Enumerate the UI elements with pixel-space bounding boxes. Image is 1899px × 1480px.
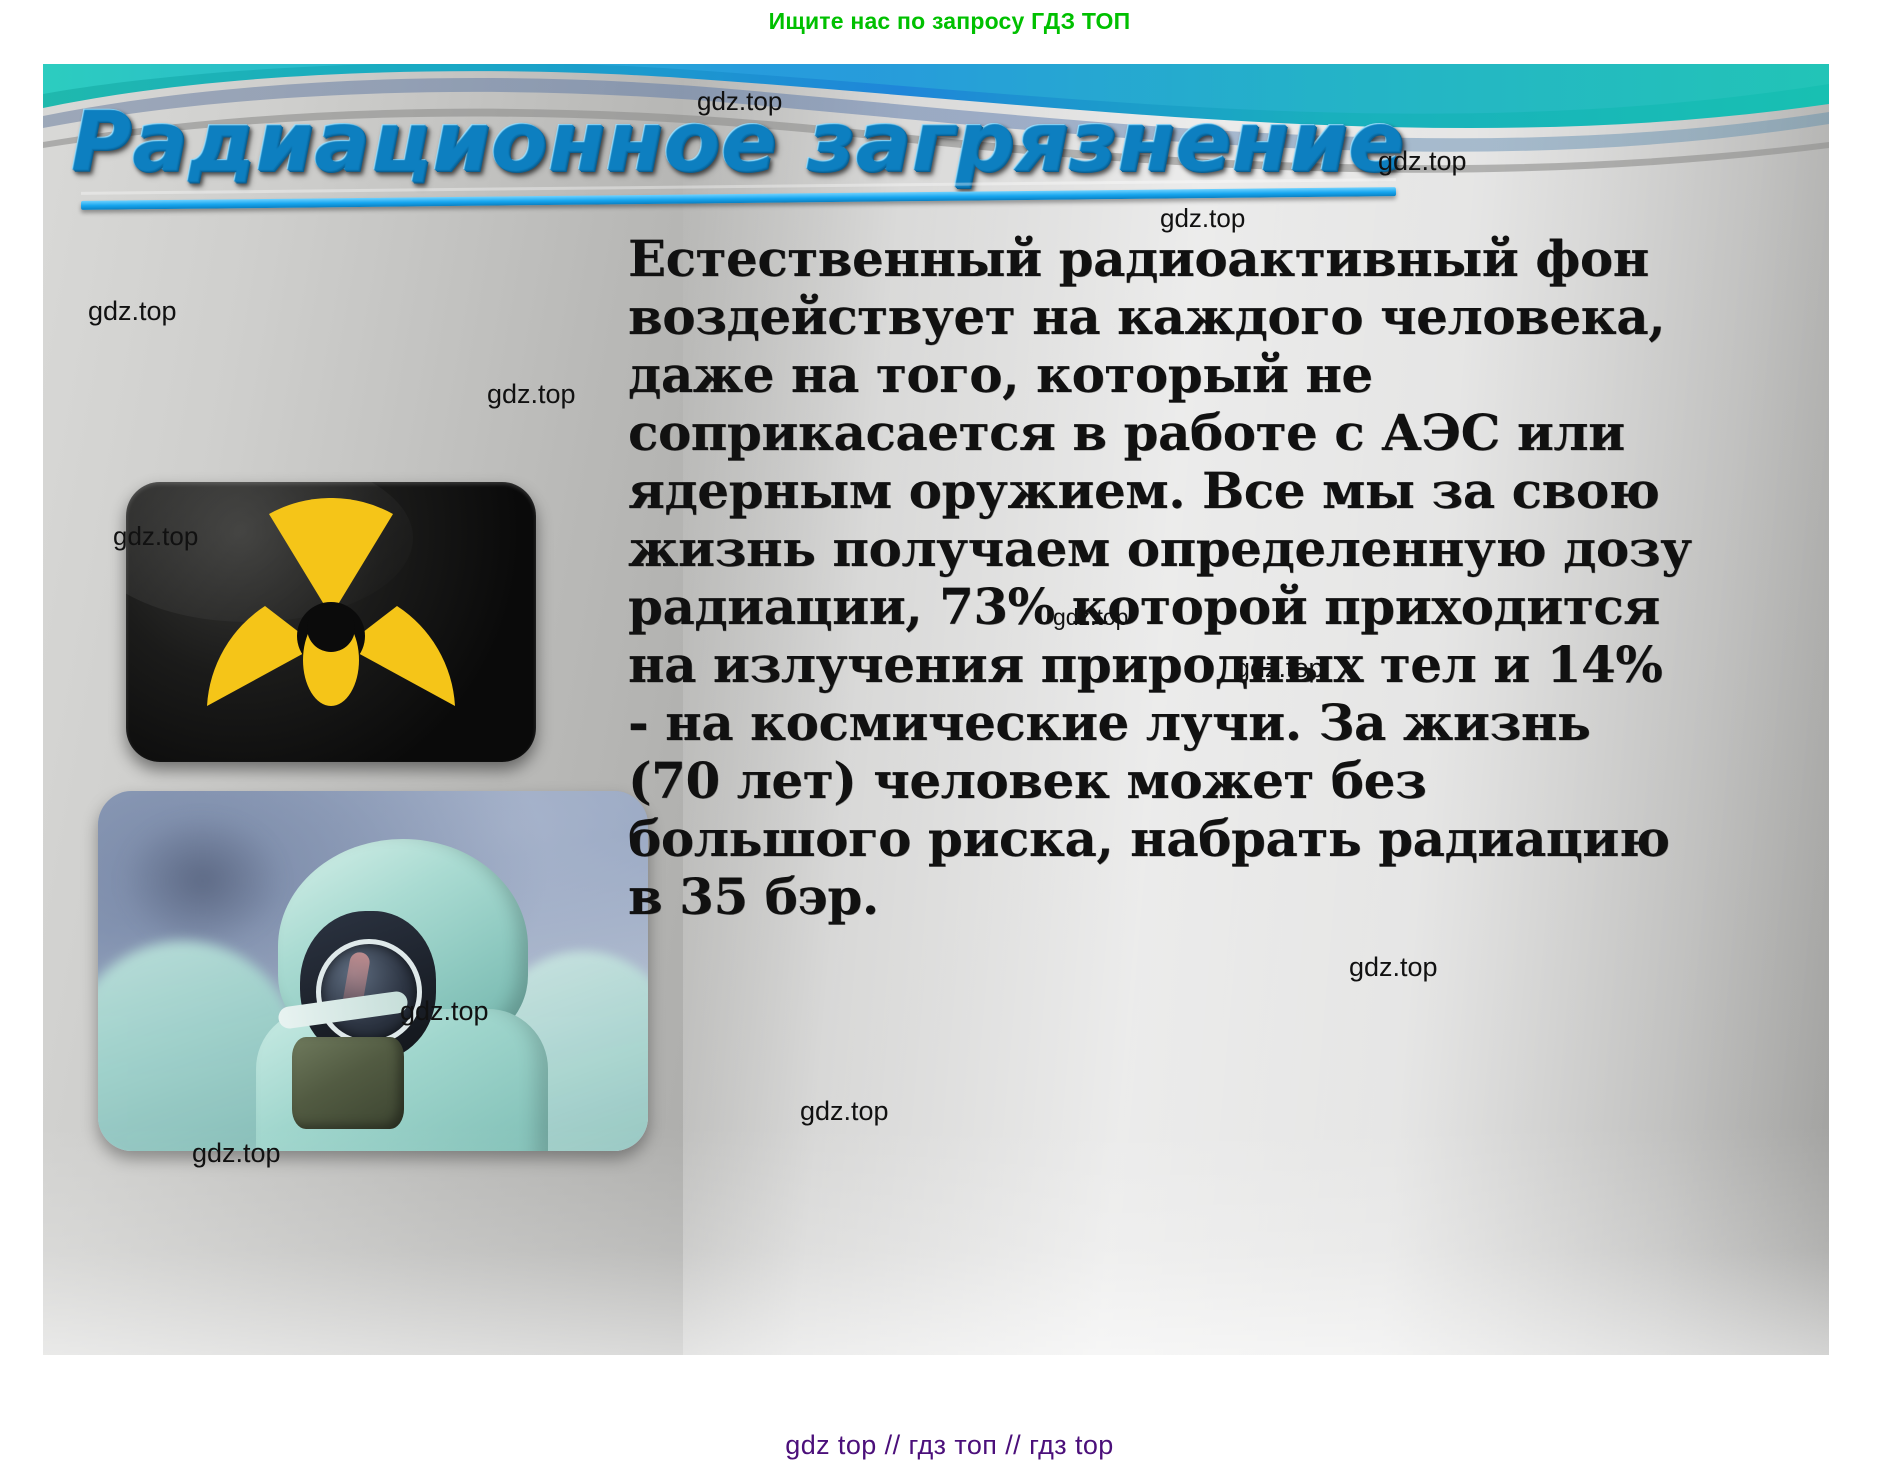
hazmat-worker-photo (98, 791, 648, 1151)
footer-link[interactable]: гдз топ (908, 1430, 997, 1460)
hazmat-suit-figure (248, 839, 548, 1151)
gas-mask-lens (316, 939, 422, 1045)
presentation-slide: Радиационное загрязнение (43, 64, 1829, 1355)
gas-mask-filter (292, 1037, 404, 1129)
footer-link[interactable]: gdz top (785, 1430, 876, 1460)
slide-bottom-sheen (43, 1125, 1829, 1355)
radiation-trefoil-sign (126, 482, 536, 762)
promo-banner-text: Ищите нас по запросу ГДЗ ТОП (769, 8, 1131, 35)
footer-link[interactable]: гдз top (1029, 1430, 1114, 1460)
slide-body-text: Естественный радиоактивный фон воздейств… (628, 230, 1693, 926)
footer-separator: // (885, 1430, 901, 1460)
promo-banner: Ищите нас по запросу ГДЗ ТОП (0, 0, 1899, 42)
footer-links: gdz top//гдз топ//гдз top (0, 1430, 1899, 1461)
radiation-trefoil-icon (181, 498, 481, 746)
page-title: Радиационное загрязнение (71, 102, 1401, 184)
footer-separator: // (1005, 1430, 1021, 1460)
